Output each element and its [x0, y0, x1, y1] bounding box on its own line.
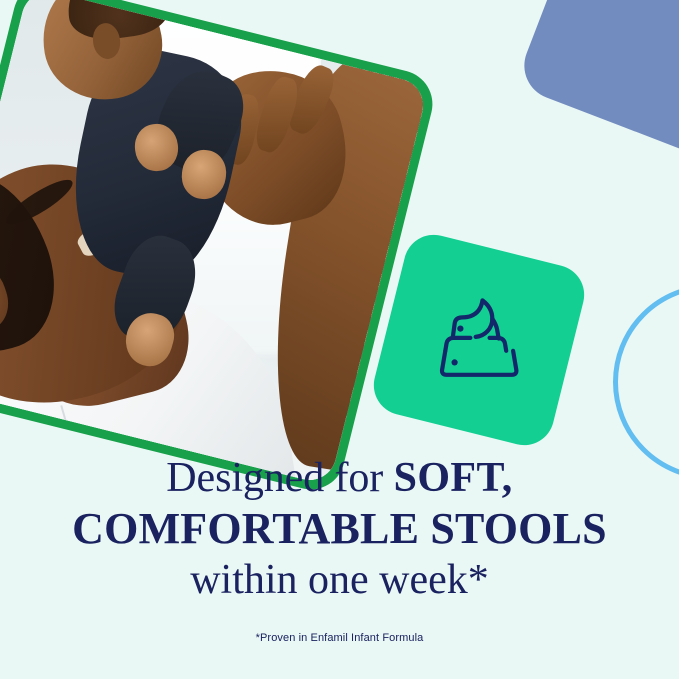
photo-hexagon-frame — [0, 0, 440, 497]
headline-line-2: COMFORTABLE STOOLS — [0, 504, 679, 553]
soft-stool-badge — [367, 228, 590, 451]
soft-stool-icon — [387, 248, 571, 432]
decorative-circle-outline — [613, 284, 679, 480]
headline-line-1: Designed for SOFT, — [0, 455, 679, 502]
headline: Designed for SOFT, COMFORTABLE STOOLS wi… — [0, 455, 679, 604]
headline-line-3: within one week* — [0, 557, 679, 604]
promo-banner: Designed for SOFT, COMFORTABLE STOOLS wi… — [0, 0, 679, 679]
footnote: *Proven in Enfamil Infant Formula — [0, 632, 679, 644]
photo-scene — [0, 0, 429, 486]
decorative-blue-hexagon — [514, 0, 679, 168]
headline-line-1-prefix: Designed for — [166, 455, 393, 501]
headline-line-1-emphasis: SOFT, — [394, 455, 513, 501]
photo-hexagon-inner — [0, 0, 429, 486]
lifestyle-photo — [0, 21, 394, 451]
